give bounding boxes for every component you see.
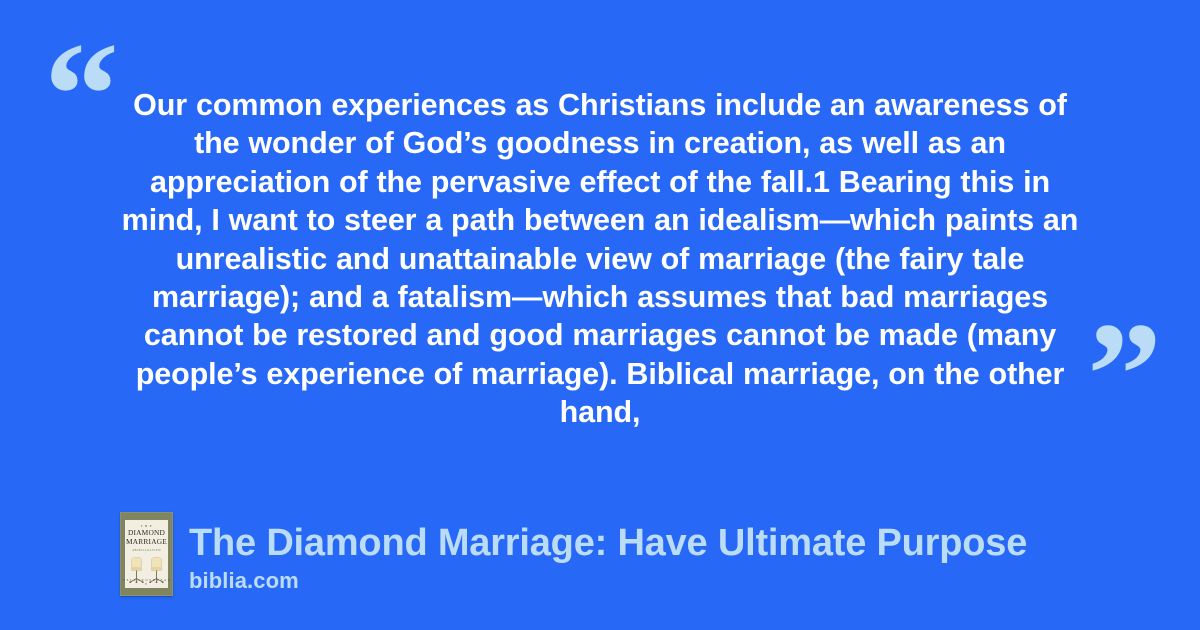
document-title: The Diamond Marriage: Have Ultimate Purp… bbox=[189, 521, 1027, 565]
footer: T H E DIAMOND MARRIAGE A B I B L I C A L… bbox=[120, 512, 1027, 596]
book-cover-subtitle: A B I B L I C A L V I E W bbox=[127, 549, 166, 553]
source-label: biblia.com bbox=[189, 567, 1027, 595]
book-cover-author: H E L E N R O S E V E A R E bbox=[121, 578, 172, 586]
book-cover-bottom-band bbox=[121, 588, 172, 595]
quote-card: “ Our common experiences as Christians i… bbox=[0, 0, 1200, 630]
closing-quote-icon: ” bbox=[1087, 300, 1162, 450]
quote-text: Our common experiences as Christians inc… bbox=[108, 86, 1092, 432]
book-cover-title: DIAMOND MARRIAGE bbox=[124, 529, 169, 546]
book-cover-thumbnail: T H E DIAMOND MARRIAGE A B I B L I C A L… bbox=[120, 512, 173, 596]
book-cover-top-band bbox=[121, 513, 172, 520]
footer-title-block: The Diamond Marriage: Have Ultimate Purp… bbox=[189, 521, 1027, 596]
